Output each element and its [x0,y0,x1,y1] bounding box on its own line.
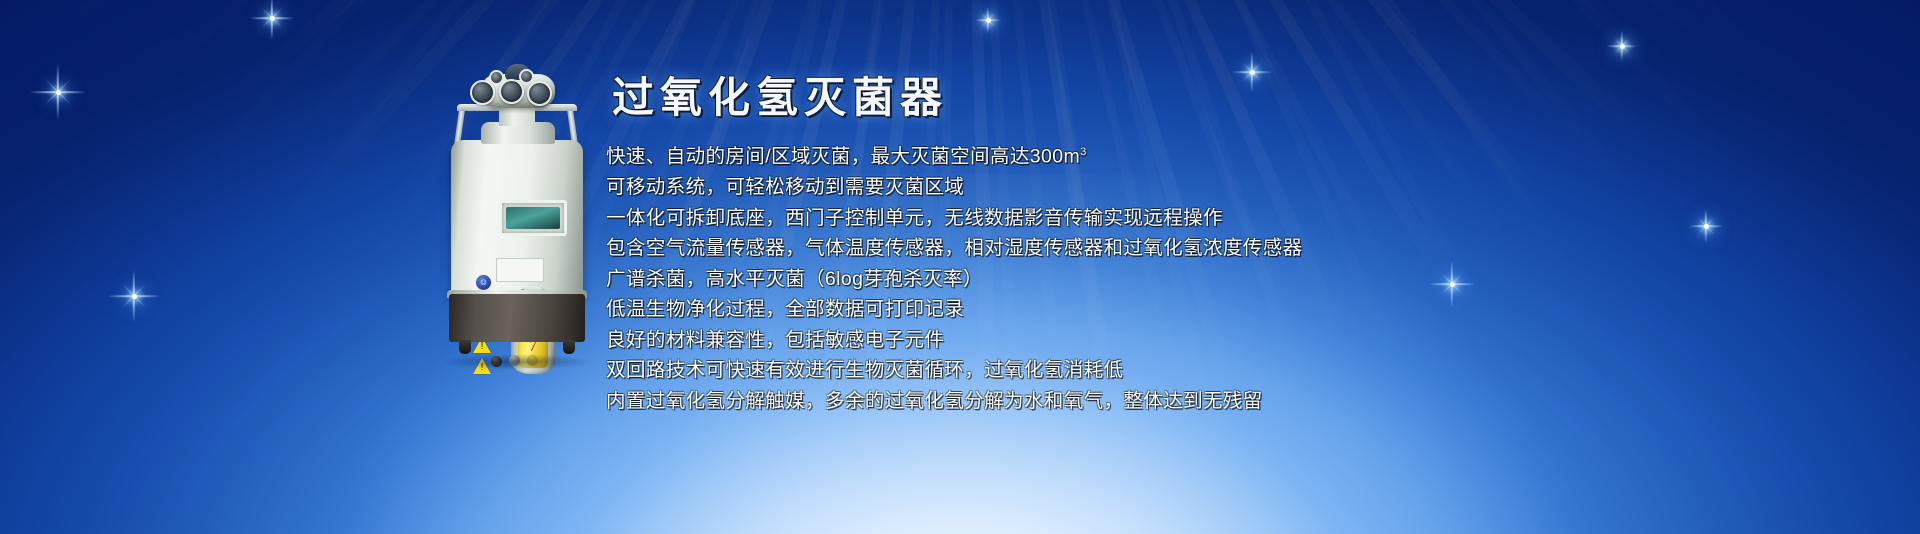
caster-wheel-right [563,340,575,354]
feature-item: 双回路技术可快速有效进行生物灭菌循环，过氧化氢消耗低 [606,355,1866,386]
feature-item: 内置过氧化氢分解触媒，多余的过氧化氢分解为水和氧气，整体达到无残留 [606,386,1866,417]
page-title: 过氧化氢灭菌器 [612,64,1866,125]
feature-item: 一体化可拆卸底座，西门子控制单元，无线数据影音传输实现远程操作 [606,203,1866,234]
machine-body: ☺ ✆ ✋ ! ! 7 [451,140,583,298]
display-screen-glass [506,207,560,229]
warning-glyph-1: ! [480,342,484,352]
control-display [499,200,567,236]
feature-item: 可移动系统，可轻松移动到需要灭菌区域 [606,172,1866,203]
feature-item: 良好的材料兼容性，包括敏感电子元件 [606,325,1866,356]
product-image-hydrogen-peroxide-sterilizer: ☺ ✆ ✋ ! ! 7 [437,62,597,374]
ground-shadow [441,354,593,370]
spray-nozzle-3 [527,81,552,106]
feature-item: 包含空气流量传感器，气体温度传感器，相对湿度传感器和过氧化氢浓度传感器 [606,233,1866,264]
sensor-port-2 [519,69,534,84]
spray-nozzle-2 [499,79,524,104]
text-content-block: 过氧化氢灭菌器 快速、自动的房间/区域灭菌，最大灭菌空间高达300m3可移动系统… [606,64,1866,416]
sensor-port-1 [489,70,504,85]
detachable-base [449,294,585,342]
caster-wheel-left [459,340,471,354]
spec-label [496,258,544,282]
product-banner: ☺ ✆ ✋ ! ! 7 [0,0,1920,534]
feature-item: 低温生物净化过程，全部数据可打印记录 [606,294,1866,325]
feature-item: 广谱杀菌，高水平灭菌（6log芽孢杀灭率） [606,264,1866,295]
spray-nozzle-1 [470,80,495,105]
feature-list: 快速、自动的房间/区域灭菌，最大灭菌空间高达300m3可移动系统，可轻松移动到需… [606,137,1866,416]
sticker-glyph-1: ☺ [476,275,491,290]
feature-item: 快速、自动的房间/区域灭菌，最大灭菌空间高达300m3 [606,137,1866,172]
info-sticker-1: ☺ [475,274,492,291]
